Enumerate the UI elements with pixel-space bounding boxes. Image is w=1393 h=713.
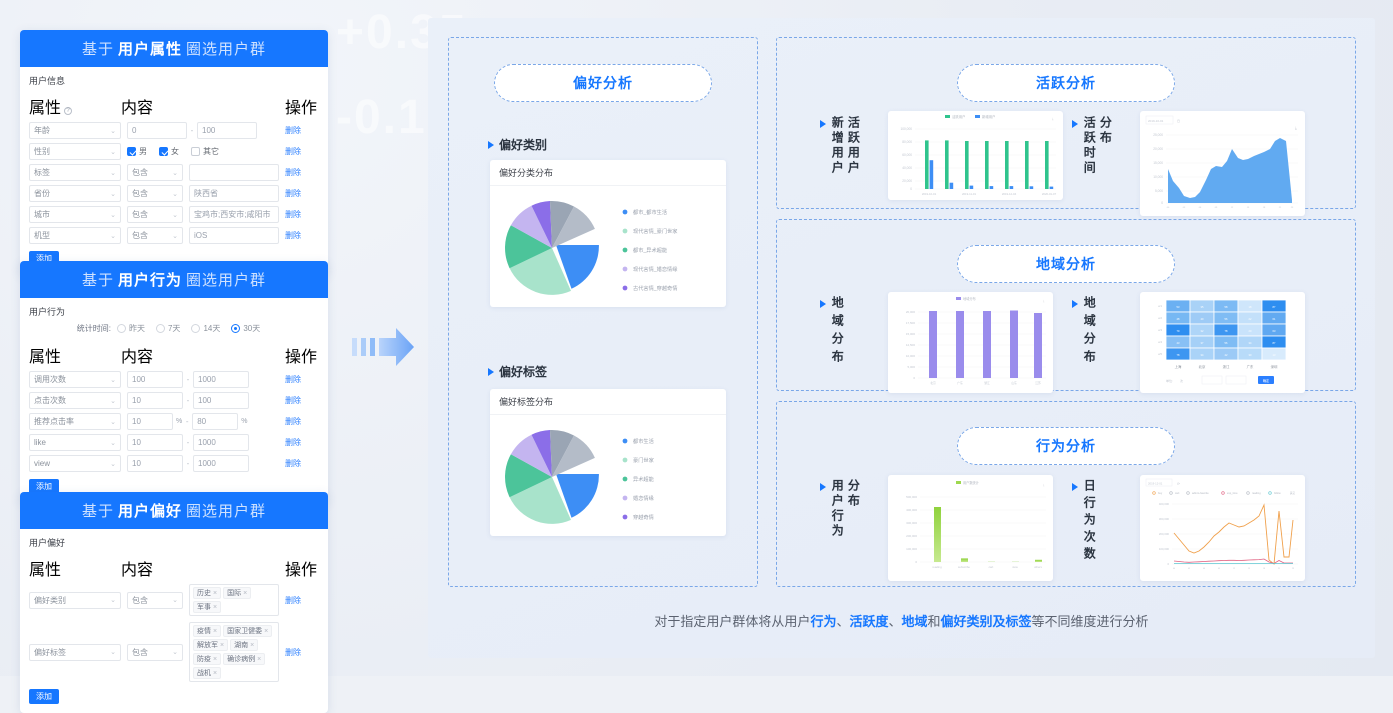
chart-title: 偏好分类分布 bbox=[490, 160, 726, 179]
svg-text:山东: 山东 bbox=[1011, 381, 1017, 385]
caption-part-4: 和 bbox=[928, 614, 941, 629]
svg-text:日: 日 bbox=[1177, 119, 1180, 123]
close-icon[interactable]: × bbox=[213, 656, 217, 663]
col-action: 操作 bbox=[285, 94, 319, 118]
legend-label-0: 都市_都市生活 bbox=[633, 208, 667, 216]
svg-text:⤓: ⤓ bbox=[1043, 299, 1045, 303]
chart-card-pref-tag: 偏好标签分布 都市生活 豪门世家 异术超能 婚恋情缘 穿越奇情 bbox=[490, 389, 726, 536]
delete-row-button[interactable]: 删除 bbox=[285, 188, 319, 199]
radio-14d[interactable]: 14天 bbox=[191, 323, 220, 334]
svg-text:cart: cart bbox=[1175, 491, 1180, 495]
svg-text:00: 00 bbox=[1173, 568, 1175, 570]
attribute-select[interactable]: 性别⌄ bbox=[29, 143, 121, 160]
card-2-title-highlight: 用户行为 bbox=[118, 269, 182, 290]
area-chart-active-hours[interactable]: 2019-10-01 日 ⤓ 25,000 20,000 15,000 10,0… bbox=[1140, 111, 1305, 216]
svg-text:地域分布: 地域分布 bbox=[963, 296, 976, 301]
tag-chip: 解放军× bbox=[193, 639, 228, 651]
svg-text:北京: 北京 bbox=[930, 381, 936, 385]
radio-icon bbox=[117, 324, 126, 333]
svg-text:15,000: 15,000 bbox=[906, 332, 916, 336]
delete-row-button[interactable]: 删除 bbox=[285, 395, 319, 406]
legend-label-4: 穿越奇情 bbox=[633, 513, 654, 521]
chevron-down-icon: ⌄ bbox=[110, 596, 116, 604]
max-input[interactable]: 1000 bbox=[193, 371, 249, 388]
svg-text:0: 0 bbox=[1167, 562, 1169, 566]
attribute-select[interactable]: 机型⌄ bbox=[29, 227, 121, 244]
svg-text:23: 23 bbox=[1291, 207, 1294, 209]
card-2-title-suffix: 圈选用户群 bbox=[186, 269, 266, 290]
chevron-down-icon: ⌄ bbox=[110, 648, 116, 656]
time-range-radios: 统计时间: 昨天 7天 14天 30天 bbox=[29, 323, 319, 334]
caption-highlight-3: 地域 bbox=[902, 614, 928, 629]
tag-chip: 确诊病例× bbox=[223, 653, 265, 665]
chevron-down-icon: ⌄ bbox=[172, 211, 178, 219]
close-icon[interactable]: × bbox=[220, 642, 224, 649]
chevron-down-icon: ⌄ bbox=[110, 190, 116, 198]
caption-highlight-4: 偏好类别及标签 bbox=[941, 614, 1032, 629]
label-region-dist-left: 地域分布 bbox=[820, 296, 883, 368]
legend-label-2: 异术超能 bbox=[633, 475, 654, 483]
svg-text:06: 06 bbox=[1199, 207, 1202, 209]
svg-text:300,000: 300,000 bbox=[1159, 517, 1170, 521]
legend-label-1: 现代言情_豪门世家 bbox=[633, 227, 677, 235]
svg-text:reading: reading bbox=[1252, 491, 1261, 495]
svg-text:400,000: 400,000 bbox=[1159, 502, 1170, 506]
caption-highlight-1: 行为 bbox=[810, 614, 836, 629]
svg-text:18: 18 bbox=[1263, 207, 1266, 209]
tag-chip: 防疫× bbox=[193, 653, 221, 665]
card-user-attributes: 基于 用户属性 圈选用户群 用户信息 属性? 内容 操作 年龄⌄ 0 - 100… bbox=[20, 30, 328, 275]
legend-label-2: 都市_异术超能 bbox=[633, 246, 667, 254]
delete-row-button[interactable]: 删除 bbox=[285, 146, 319, 157]
max-input[interactable]: 1000 bbox=[193, 455, 249, 472]
pill-behavior-analysis[interactable]: 行为分析 bbox=[957, 427, 1175, 465]
svg-text:0: 0 bbox=[915, 560, 917, 564]
chevron-down-icon: ⌄ bbox=[110, 169, 116, 177]
svg-text:⤓: ⤓ bbox=[1295, 125, 1297, 130]
filter-row: 点击次数⌄ 10 - 100 删除 bbox=[29, 392, 319, 409]
chart-card-active-users: 活跃用户 新增用户 ⤓ 100,000 80,000 60,000 40,000… bbox=[888, 111, 1063, 200]
tag-input[interactable]: 历史× 国际× 军事× bbox=[189, 584, 279, 616]
radio-30d[interactable]: 30天 bbox=[231, 323, 260, 334]
chevron-down-icon: ⌄ bbox=[110, 418, 116, 426]
line-chart-daily-behavior[interactable]: 2019-12-01 ⟳ buy cart add-to-favorite ex… bbox=[1140, 475, 1305, 581]
attribute-select[interactable]: like⌄ bbox=[29, 434, 121, 451]
svg-text:100,000: 100,000 bbox=[900, 127, 912, 131]
close-icon[interactable]: × bbox=[257, 656, 261, 663]
svg-text:2019-12-04: 2019-12-04 bbox=[1002, 192, 1017, 196]
tag-chip: 湖南× bbox=[230, 639, 258, 651]
radio-yesterday[interactable]: 昨天 bbox=[117, 323, 145, 334]
close-icon[interactable]: × bbox=[250, 642, 254, 649]
operator-select[interactable]: 包含⌄ bbox=[127, 644, 183, 661]
bar-chart-active-users[interactable]: 活跃用户 新增用户 ⤓ 100,000 80,000 60,000 40,000… bbox=[888, 111, 1063, 200]
tag-chip: 历史× bbox=[193, 587, 221, 599]
age-min-input[interactable]: 0 bbox=[127, 122, 187, 139]
svg-text:浙江: 浙江 bbox=[1223, 364, 1230, 369]
card-3-title-highlight: 用户偏好 bbox=[118, 500, 182, 521]
col-attribute: 属性 bbox=[29, 343, 121, 367]
checkbox-icon bbox=[191, 147, 200, 156]
card-1-title-suffix: 圈选用户群 bbox=[186, 38, 266, 59]
attribute-select[interactable]: 推荐点击率⌄ bbox=[29, 413, 121, 430]
card-3-section-label: 用户偏好 bbox=[29, 536, 319, 549]
close-icon[interactable]: × bbox=[213, 604, 217, 611]
svg-text:江苏: 江苏 bbox=[1035, 381, 1041, 385]
age-max-input[interactable]: 100 bbox=[197, 122, 257, 139]
caption-part-5: 等不同维度进行分析 bbox=[1032, 614, 1149, 629]
caption-part-3: 、 bbox=[888, 614, 901, 629]
panel-caption: 对于指定用户群体将从用户行为、活跃度、地域和偏好类别及标签等不同维度进行分析 bbox=[428, 611, 1375, 630]
svg-text:15: 15 bbox=[1247, 207, 1250, 209]
checkbox-icon bbox=[159, 147, 168, 156]
svg-text:15,000: 15,000 bbox=[1153, 161, 1163, 165]
svg-text:09: 09 bbox=[1215, 207, 1218, 209]
triangle-icon bbox=[1072, 483, 1078, 491]
svg-text:广东: 广东 bbox=[957, 381, 963, 385]
operator-select[interactable]: 包含⌄ bbox=[127, 592, 183, 609]
delete-row-button[interactable]: 删除 bbox=[285, 125, 319, 136]
card-user-preference: 基于 用户偏好 圈选用户群 用户偏好 属性 内容 操作 偏好类别⌄ 包含⌄ 历史… bbox=[20, 492, 328, 713]
svg-text:06: 06 bbox=[1203, 568, 1205, 570]
svg-text:00: 00 bbox=[1167, 207, 1170, 209]
chevron-down-icon: ⌄ bbox=[110, 148, 116, 156]
bar-chart-region[interactable]: 地域分布 ⤓ 20,00017,500 15,00012,500 10,0005… bbox=[888, 292, 1053, 393]
svg-text:others: others bbox=[1034, 565, 1042, 569]
triangle-icon bbox=[1072, 300, 1078, 308]
filter-row: like⌄ 10 - 1000 删除 bbox=[29, 434, 319, 451]
radio-7d[interactable]: 7天 bbox=[156, 323, 180, 334]
label-region-dist-right: 地域分布 bbox=[1072, 296, 1135, 368]
radio-icon bbox=[231, 324, 240, 333]
radio-icon bbox=[191, 324, 200, 333]
svg-text:100,000: 100,000 bbox=[1159, 547, 1170, 551]
attribute-select[interactable]: 标签⌄ bbox=[29, 164, 121, 181]
svg-text:上海: 上海 bbox=[1175, 364, 1182, 369]
tag-input[interactable]: 疫情× 国家卫健委× 解放军× 湖南× 防疫× 确诊病例× 战机× bbox=[189, 622, 279, 682]
svg-text:cart: cart bbox=[989, 565, 994, 569]
close-icon[interactable]: × bbox=[213, 628, 217, 635]
svg-text:18: 18 bbox=[1263, 568, 1265, 570]
svg-text:其它: 其它 bbox=[1290, 491, 1296, 495]
filter-row: 推荐点击率⌄ 10 % - 80 % 删除 bbox=[29, 413, 319, 430]
max-input[interactable]: 100 bbox=[193, 392, 249, 409]
svg-text:200,000: 200,000 bbox=[906, 534, 917, 538]
svg-text:0: 0 bbox=[1161, 201, 1163, 205]
pill-active-analysis[interactable]: 活跃分析 bbox=[957, 64, 1175, 102]
svg-text:2019-10-01: 2019-10-01 bbox=[922, 192, 937, 196]
svg-text:w2: w2 bbox=[1158, 316, 1162, 320]
delete-row-button[interactable]: 删除 bbox=[285, 374, 319, 385]
chevron-down-icon: ⌄ bbox=[110, 127, 116, 135]
attribute-select[interactable]: view⌄ bbox=[29, 455, 121, 472]
svg-text:09: 09 bbox=[1218, 568, 1220, 570]
svg-text:400,000: 400,000 bbox=[906, 508, 917, 512]
chevron-down-icon: ⌄ bbox=[110, 397, 116, 405]
col-content: 内容 bbox=[121, 556, 285, 580]
card-3-title-prefix: 基于 bbox=[82, 500, 114, 521]
close-icon[interactable]: × bbox=[243, 590, 247, 597]
legend-label-1: 豪门世家 bbox=[633, 456, 654, 464]
svg-text:23: 23 bbox=[1292, 568, 1294, 570]
svg-text:2019-11-01: 2019-11-01 bbox=[962, 192, 977, 196]
chevron-down-icon: ⌄ bbox=[110, 376, 116, 384]
svg-text:40,000: 40,000 bbox=[902, 166, 912, 170]
svg-text:21: 21 bbox=[1278, 568, 1280, 570]
min-input[interactable]: 100 bbox=[127, 371, 183, 388]
svg-text:w5: w5 bbox=[1158, 352, 1162, 356]
svg-text:60,000: 60,000 bbox=[902, 153, 912, 157]
close-icon[interactable]: × bbox=[264, 628, 268, 635]
delete-row-button[interactable]: 删除 bbox=[285, 167, 319, 178]
operator-select[interactable]: 包含⌄ bbox=[127, 227, 183, 244]
operator-select[interactable]: 包含⌄ bbox=[127, 185, 183, 202]
svg-text:单位:: 单位: bbox=[1166, 378, 1173, 383]
legend-label-4: 古代言情_穿越奇情 bbox=[633, 284, 677, 292]
chevron-down-icon: ⌄ bbox=[110, 439, 116, 447]
chevron-down-icon: ⌄ bbox=[172, 648, 178, 656]
col-action: 操作 bbox=[285, 556, 319, 580]
card-1-title-prefix: 基于 bbox=[82, 38, 114, 59]
svg-text:17,500: 17,500 bbox=[906, 321, 916, 325]
close-icon[interactable]: × bbox=[213, 590, 217, 597]
filter-row: 机型⌄ 包含⌄ iOS 删除 bbox=[29, 227, 319, 244]
region-pill-wrap: 地域分析 bbox=[776, 245, 1356, 283]
filter-row: 城市⌄ 包含⌄ 宝鸡市;西安市;咸阳市 删除 bbox=[29, 206, 319, 223]
svg-text:12: 12 bbox=[1233, 568, 1235, 570]
svg-text:次: 次 bbox=[1180, 378, 1183, 383]
active-pill-wrap: 活跃分析 bbox=[776, 64, 1356, 102]
operator-select[interactable]: 包含⌄ bbox=[127, 164, 183, 181]
tag-chip: 军事× bbox=[193, 601, 221, 613]
svg-text:15: 15 bbox=[1248, 568, 1250, 570]
svg-text:0: 0 bbox=[910, 187, 912, 191]
col-action: 操作 bbox=[285, 343, 319, 367]
tag-chip: 疫情× bbox=[193, 625, 221, 637]
svg-text:浙江: 浙江 bbox=[984, 381, 990, 385]
svg-text:w1: w1 bbox=[1158, 304, 1162, 308]
attribute-select[interactable]: 偏好标签⌄ bbox=[29, 644, 121, 661]
col-content: 内容 bbox=[121, 343, 285, 367]
max-input[interactable]: 1000 bbox=[193, 434, 249, 451]
min-input[interactable]: 10 bbox=[127, 392, 183, 409]
card-1-title-highlight: 用户属性 bbox=[118, 38, 182, 59]
pie-chart-pref-category[interactable]: 都市_都市生活 现代言情_豪门世家 都市_异术超能 现代言情_婚恋情缘 古代言情… bbox=[490, 186, 726, 308]
behavior-pill-wrap: 行为分析 bbox=[776, 427, 1356, 465]
card-1-section-label: 用户信息 bbox=[29, 74, 319, 87]
pie-chart-pref-tag[interactable]: 都市生活 豪门世家 异术超能 婚恋情缘 穿越奇情 bbox=[490, 415, 726, 537]
svg-text:⤓: ⤓ bbox=[1043, 483, 1045, 487]
card-3-header: 基于 用户偏好 圈选用户群 bbox=[20, 492, 328, 529]
triangle-icon bbox=[488, 368, 494, 376]
chart-card-region-heatmap: w1 w2 w3 w4 w5 bbox=[1140, 292, 1305, 393]
chart-card-behavior-bar: 用户数统计 ⤓ 500,000 400,000 300,000 200,000 … bbox=[888, 475, 1053, 581]
svg-text:20,000: 20,000 bbox=[902, 179, 912, 183]
attribute-select[interactable]: 偏好类别⌄ bbox=[29, 592, 121, 609]
svg-text:300,000: 300,000 bbox=[906, 521, 917, 525]
operator-select[interactable]: 包含⌄ bbox=[127, 206, 183, 223]
legend-label-0: 都市生活 bbox=[633, 437, 654, 445]
min-input[interactable]: 10 bbox=[127, 434, 183, 451]
svg-text:2020-01-07: 2020-01-07 bbox=[1042, 192, 1057, 196]
max-input[interactable]: 80 bbox=[192, 413, 238, 430]
filter-row: view⌄ 10 - 1000 删除 bbox=[29, 455, 319, 472]
preference-pill-wrap: 偏好分析 bbox=[448, 64, 758, 102]
flow-arrow-icon bbox=[350, 322, 416, 372]
card-2-section-label: 用户行为 bbox=[29, 305, 319, 318]
gender-female-checkbox[interactable]: 女 bbox=[159, 146, 179, 157]
subheading-preference-category: 偏好类别 bbox=[488, 136, 547, 153]
value-input[interactable]: 陕西省 bbox=[189, 185, 279, 202]
svg-text:确定: 确定 bbox=[1263, 378, 1270, 383]
svg-text:0: 0 bbox=[913, 376, 915, 380]
tag-chip: 国际× bbox=[223, 587, 251, 599]
chevron-down-icon: ⌄ bbox=[110, 232, 116, 240]
filter-row: 省份⌄ 包含⌄ 陕西省 删除 bbox=[29, 185, 319, 202]
chevron-down-icon: ⌄ bbox=[110, 211, 116, 219]
chart-card-region-bar: 地域分布 ⤓ 20,00017,500 15,00012,500 10,0005… bbox=[888, 292, 1053, 393]
label-daily-behavior: 日行为次数 bbox=[1072, 479, 1148, 564]
card-2-header: 基于 用户行为 圈选用户群 bbox=[20, 261, 328, 298]
svg-text:12,500: 12,500 bbox=[906, 343, 916, 347]
delete-row-button[interactable]: 删除 bbox=[285, 209, 319, 220]
svg-text:25,000: 25,000 bbox=[1153, 133, 1163, 137]
filter-row: 偏好标签⌄ 包含⌄ 疫情× 国家卫健委× 解放军× 湖南× 防疫× 确诊病例× … bbox=[29, 622, 319, 682]
svg-text:⤓: ⤓ bbox=[1052, 117, 1054, 121]
svg-text:500,000: 500,000 bbox=[906, 495, 917, 499]
svg-text:⟳: ⟳ bbox=[1177, 482, 1180, 486]
chevron-down-icon: ⌄ bbox=[172, 190, 178, 198]
chart-title: 偏好标签分布 bbox=[490, 389, 726, 408]
value-input[interactable]: 宝鸡市;西安市;咸阳市 bbox=[189, 206, 279, 223]
filter-row: 标签⌄ 包含⌄ 删除 bbox=[29, 164, 319, 181]
card-2-title-prefix: 基于 bbox=[82, 269, 114, 290]
time-range-label: 统计时间: bbox=[77, 323, 111, 334]
col-attribute: 属性? bbox=[29, 94, 121, 118]
delete-row-button[interactable]: 删除 bbox=[285, 595, 319, 606]
close-icon[interactable]: × bbox=[213, 670, 217, 677]
add-filter-button[interactable]: 添加 bbox=[29, 689, 59, 704]
svg-text:view: view bbox=[1012, 565, 1019, 569]
delete-row-button[interactable]: 删除 bbox=[285, 416, 319, 427]
caption-part-2: 、 bbox=[836, 614, 849, 629]
value-input[interactable]: iOS bbox=[189, 227, 279, 244]
legend-label-3: 现代言情_婚恋情缘 bbox=[633, 265, 677, 273]
col-content: 内容 bbox=[121, 94, 285, 118]
svg-text:10,000: 10,000 bbox=[906, 354, 916, 358]
card-user-behavior: 基于 用户行为 圈选用户群 用户行为 统计时间: 昨天 7天 14天 30天 属… bbox=[20, 261, 328, 503]
svg-text:20,000: 20,000 bbox=[906, 310, 916, 314]
chevron-down-icon: ⌄ bbox=[172, 169, 178, 177]
pill-region-analysis[interactable]: 地域分析 bbox=[957, 245, 1175, 283]
col-attribute: 属性 bbox=[29, 556, 121, 580]
triangle-icon bbox=[820, 483, 826, 491]
delete-row-button[interactable]: 删除 bbox=[285, 647, 319, 658]
svg-text:subscribe: subscribe bbox=[958, 565, 970, 569]
svg-text:北京: 北京 bbox=[1199, 364, 1206, 369]
svg-text:w3: w3 bbox=[1158, 328, 1162, 332]
svg-text:10,000: 10,000 bbox=[1153, 175, 1163, 179]
delete-row-button[interactable]: 删除 bbox=[285, 230, 319, 241]
chevron-down-icon: ⌄ bbox=[172, 232, 178, 240]
svg-text:follow: follow bbox=[1274, 491, 1281, 495]
svg-text:w4: w4 bbox=[1158, 340, 1162, 344]
svg-text:5,000: 5,000 bbox=[907, 365, 915, 369]
svg-text:200,000: 200,000 bbox=[1159, 532, 1170, 536]
svg-text:20,000: 20,000 bbox=[1153, 147, 1163, 151]
triangle-icon bbox=[820, 120, 826, 128]
tag-chip: 国家卫健委× bbox=[223, 625, 272, 637]
chart-card-pref-category: 偏好分类分布 都市_都市生活 现代言情_豪门世家 都市_异术超能 现代言情_婚恋… bbox=[490, 160, 726, 307]
filter-row: 偏好类别⌄ 包含⌄ 历史× 国际× 军事× 删除 bbox=[29, 584, 319, 616]
svg-text:80,000: 80,000 bbox=[902, 140, 912, 144]
min-input[interactable]: 10 bbox=[127, 413, 173, 430]
gender-other-checkbox[interactable]: 其它 bbox=[191, 146, 219, 157]
svg-text:深圳: 深圳 bbox=[1271, 364, 1278, 369]
svg-text:exp_time: exp_time bbox=[1227, 491, 1238, 495]
triangle-icon bbox=[820, 300, 826, 308]
svg-text:21: 21 bbox=[1279, 207, 1282, 209]
svg-text:2019-12-01: 2019-12-01 bbox=[1148, 482, 1163, 486]
analysis-panel: 偏好分析 偏好类别 偏好分类分布 都市_都市生活 现代言情_豪门世家 都市_异术… bbox=[428, 18, 1375, 658]
card-1-header: 基于 用户属性 圈选用户群 bbox=[20, 30, 328, 67]
bar-chart-behavior[interactable]: 用户数统计 ⤓ 500,000 400,000 300,000 200,000 … bbox=[888, 475, 1053, 581]
delete-row-button[interactable]: 删除 bbox=[285, 437, 319, 448]
chart-card-active-hours: 2019-10-01 日 ⤓ 25,000 20,000 15,000 10,0… bbox=[1140, 111, 1305, 216]
svg-text:用户数统计: 用户数统计 bbox=[963, 480, 980, 485]
svg-text:活跃用户: 活跃用户 bbox=[952, 114, 966, 119]
svg-text:新增用户: 新增用户 bbox=[982, 114, 996, 119]
attribute-select[interactable]: 调用次数⌄ bbox=[29, 371, 121, 388]
filter-row: 性别⌄ 男 女 其它 删除 bbox=[29, 143, 319, 160]
delete-row-button[interactable]: 删除 bbox=[285, 458, 319, 469]
gender-male-checkbox[interactable]: 男 bbox=[127, 146, 147, 157]
chevron-down-icon: ⌄ bbox=[172, 596, 178, 604]
caption-part-1: 对于指定用户群体将从用户 bbox=[654, 614, 810, 629]
svg-text:2019-10-01: 2019-10-01 bbox=[1148, 119, 1164, 123]
attribute-select[interactable]: 城市⌄ bbox=[29, 206, 121, 223]
svg-text:03: 03 bbox=[1188, 568, 1190, 570]
tag-chip: 战机× bbox=[193, 667, 221, 679]
svg-text:03: 03 bbox=[1183, 207, 1186, 209]
triangle-icon bbox=[1072, 120, 1078, 128]
attribute-select[interactable]: 点击次数⌄ bbox=[29, 392, 121, 409]
filter-row: 调用次数⌄ 100 - 1000 删除 bbox=[29, 371, 319, 388]
svg-text:广东: 广东 bbox=[1247, 364, 1254, 369]
svg-text:100,000: 100,000 bbox=[906, 547, 917, 551]
value-input[interactable] bbox=[189, 164, 279, 181]
heatmap-region[interactable]: w1 w2 w3 w4 w5 bbox=[1140, 292, 1305, 393]
svg-text:12: 12 bbox=[1231, 207, 1234, 209]
svg-text:5,000: 5,000 bbox=[1155, 189, 1163, 193]
svg-text:buy: buy bbox=[1158, 491, 1163, 495]
legend-label-3: 婚恋情缘 bbox=[633, 494, 654, 502]
svg-text:reading: reading bbox=[932, 565, 942, 569]
attribute-select[interactable]: 年龄⌄ bbox=[29, 122, 121, 139]
percent-unit: % bbox=[241, 418, 247, 425]
chart-card-daily-behavior: 2019-12-01 ⟳ buy cart add-to-favorite ex… bbox=[1140, 475, 1305, 581]
svg-text:add-to-favorite: add-to-favorite bbox=[1192, 491, 1209, 495]
min-input[interactable]: 10 bbox=[127, 455, 183, 472]
help-icon[interactable]: ? bbox=[64, 107, 72, 115]
filter-row: 年龄⌄ 0 - 100 删除 bbox=[29, 122, 319, 139]
pill-preference-analysis[interactable]: 偏好分析 bbox=[494, 64, 712, 102]
radio-icon bbox=[156, 324, 165, 333]
card-3-title-suffix: 圈选用户群 bbox=[186, 500, 266, 521]
checkbox-icon bbox=[127, 147, 136, 156]
subheading-preference-tag: 偏好标签 bbox=[488, 363, 547, 380]
attribute-select[interactable]: 省份⌄ bbox=[29, 185, 121, 202]
